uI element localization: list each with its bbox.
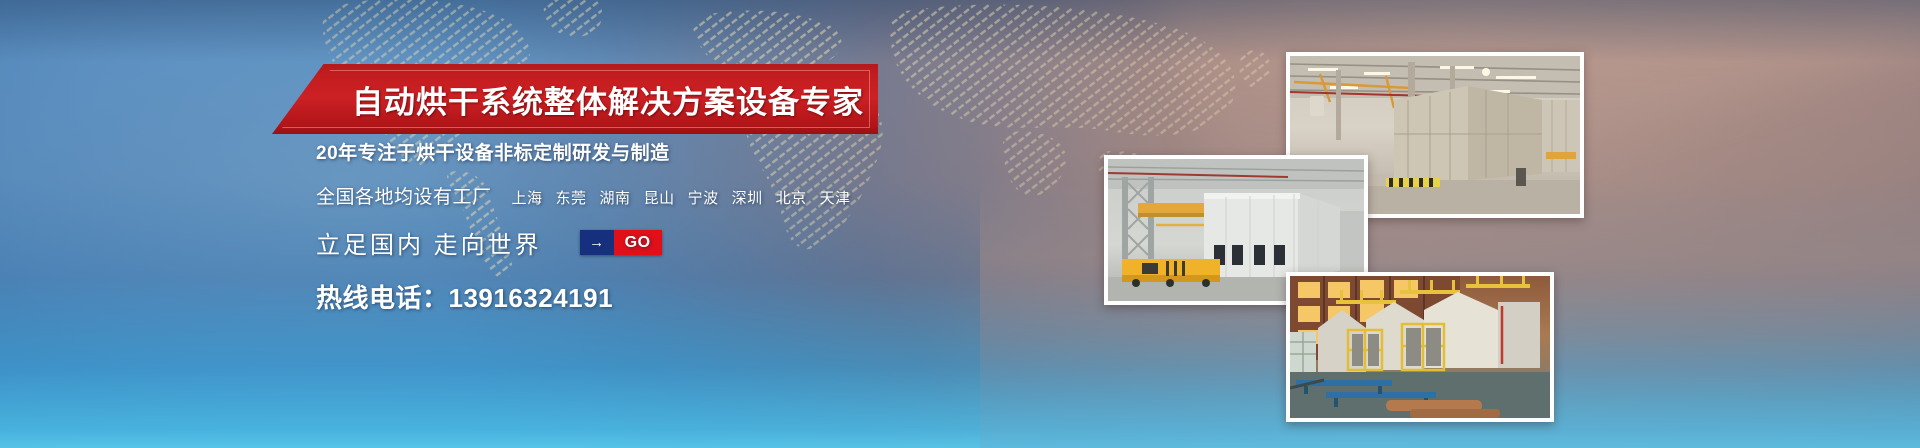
arrow-right-icon: → [580, 230, 614, 255]
city-item: 昆山 [644, 190, 675, 207]
city-item: 湖南 [600, 190, 631, 207]
city-item: 宁波 [688, 190, 719, 207]
go-button-label: GO [614, 230, 662, 255]
headline-ribbon: 自动烘干系统整体解决方案设备专家 [272, 64, 878, 134]
hotline-text: 热线电话：13916324191 [316, 278, 956, 315]
ribbon-title-text: 自动烘干系统整体解决方案设备专家 [272, 64, 878, 134]
slogan-text: 立足国内 走向世界 [316, 225, 542, 260]
city-item: 上海 [512, 190, 543, 207]
factories-line: 全国各地均设有工厂 上海东莞湖南昆山宁波深圳北京天津 [316, 182, 956, 209]
background-top-shade [0, 0, 1920, 62]
go-button[interactable]: → GO [580, 230, 662, 255]
factories-lead-text: 全国各地均设有工厂 [316, 182, 492, 209]
city-item: 深圳 [732, 190, 763, 207]
photo-inner [1290, 276, 1550, 418]
promo-banner: 自动烘干系统整体解决方案设备专家 20年专注于烘干设备非标定制研发与制造 全国各… [0, 0, 1920, 448]
city-list: 上海东莞湖南昆山宁波深圳北京天津 [512, 187, 851, 208]
copy-block: 20年专注于烘干设备非标定制研发与制造 全国各地均设有工厂 上海东莞湖南昆山宁波… [316, 138, 956, 315]
tagline-text: 20年专注于烘干设备非标定制研发与制造 [316, 138, 956, 165]
city-item: 东莞 [556, 190, 587, 207]
city-item: 北京 [776, 190, 807, 207]
photo-drying-line-production-hall [1286, 272, 1554, 422]
slogan-line: 立足国内 走向世界 → GO [316, 225, 956, 260]
city-item: 天津 [820, 190, 851, 207]
